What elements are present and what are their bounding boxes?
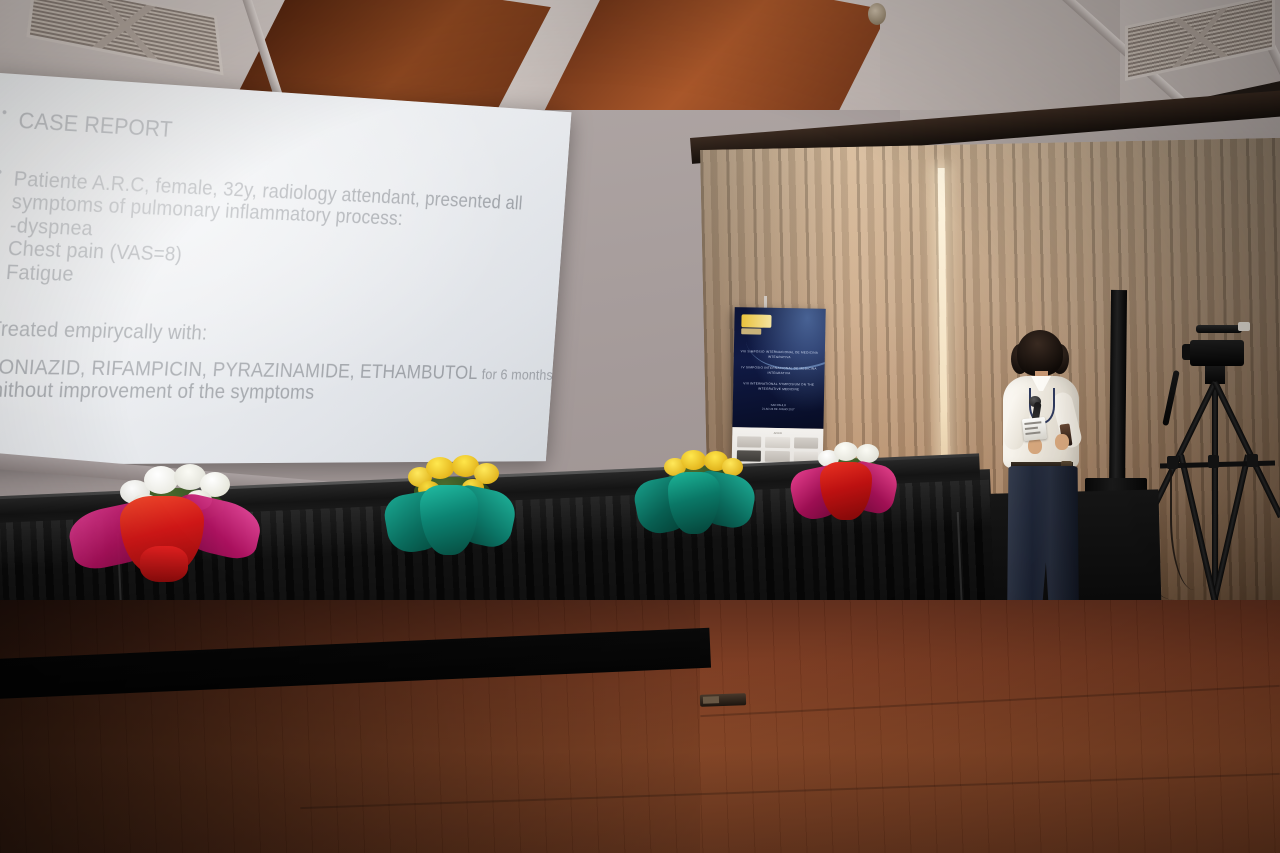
bloom <box>426 457 454 479</box>
banner-navy-panel: VIII SIMPOSIO INTERNACIONAL DE MEDICINA … <box>732 307 825 429</box>
tripod-leg-lock[interactable] <box>1247 454 1258 467</box>
tripod-leg-lock[interactable] <box>1167 456 1178 469</box>
banner-date: SAO PAULO 21 AO 24 DE JUNHO 2017 <box>733 403 824 413</box>
video-camera-body <box>1190 340 1244 366</box>
flower-arrangement-2 <box>386 455 514 567</box>
sponsor-logo <box>765 437 790 448</box>
sponsor-logo <box>737 436 762 447</box>
banner-logo-subtext <box>741 328 761 334</box>
tripod-leg-lock[interactable] <box>1208 455 1219 468</box>
column-loudspeaker <box>1109 290 1127 490</box>
slide-treatment-duration: for 6 months, <box>481 367 557 383</box>
ceiling-fixture <box>868 3 886 25</box>
red-wrap-base <box>140 546 188 582</box>
banner-sponsors-heading: APOIO <box>737 431 818 436</box>
slide-content: CASE REPORT Patiente A.R.C, female, 32y,… <box>0 72 571 465</box>
banner-line-3: VIII INTERNATIONAL SYMPOSIUM ON THE INTE… <box>733 381 824 392</box>
presentation-room-photo: CASE REPORT Patiente A.R.C, female, 32y,… <box>0 0 1280 853</box>
flower-arrangement-3 <box>636 450 754 548</box>
banner-line-2: IV SIMPOSIO INTERNACIONAL DE MEDICINA IN… <box>733 365 824 376</box>
camera-top-handle <box>1196 325 1242 333</box>
banner-date-line-2: 21 AO 24 DE JUNHO 2017 <box>733 407 824 413</box>
female-presenter <box>985 330 1105 640</box>
sponsor-logo <box>765 451 790 462</box>
banner-event-logo <box>741 314 771 328</box>
banner-line-1: VIII SIMPOSIO INTERNACIONAL DE MEDICINA … <box>734 349 825 360</box>
bloom <box>834 442 858 461</box>
presenter-hand-holding-clicker <box>1055 434 1069 450</box>
floor-shadow-area <box>0 600 700 853</box>
camera-microphone-icon <box>1238 322 1250 331</box>
flower-arrangement-1 <box>70 462 260 602</box>
floor-power-outlet-box[interactable] <box>700 693 746 707</box>
bloom <box>144 466 178 494</box>
bloom <box>681 450 706 470</box>
conference-name-badge <box>1022 417 1047 441</box>
presenter-hair <box>1017 330 1063 376</box>
projection-screen: CASE REPORT Patiente A.R.C, female, 32y,… <box>0 72 571 465</box>
flower-arrangement-4 <box>792 442 896 528</box>
